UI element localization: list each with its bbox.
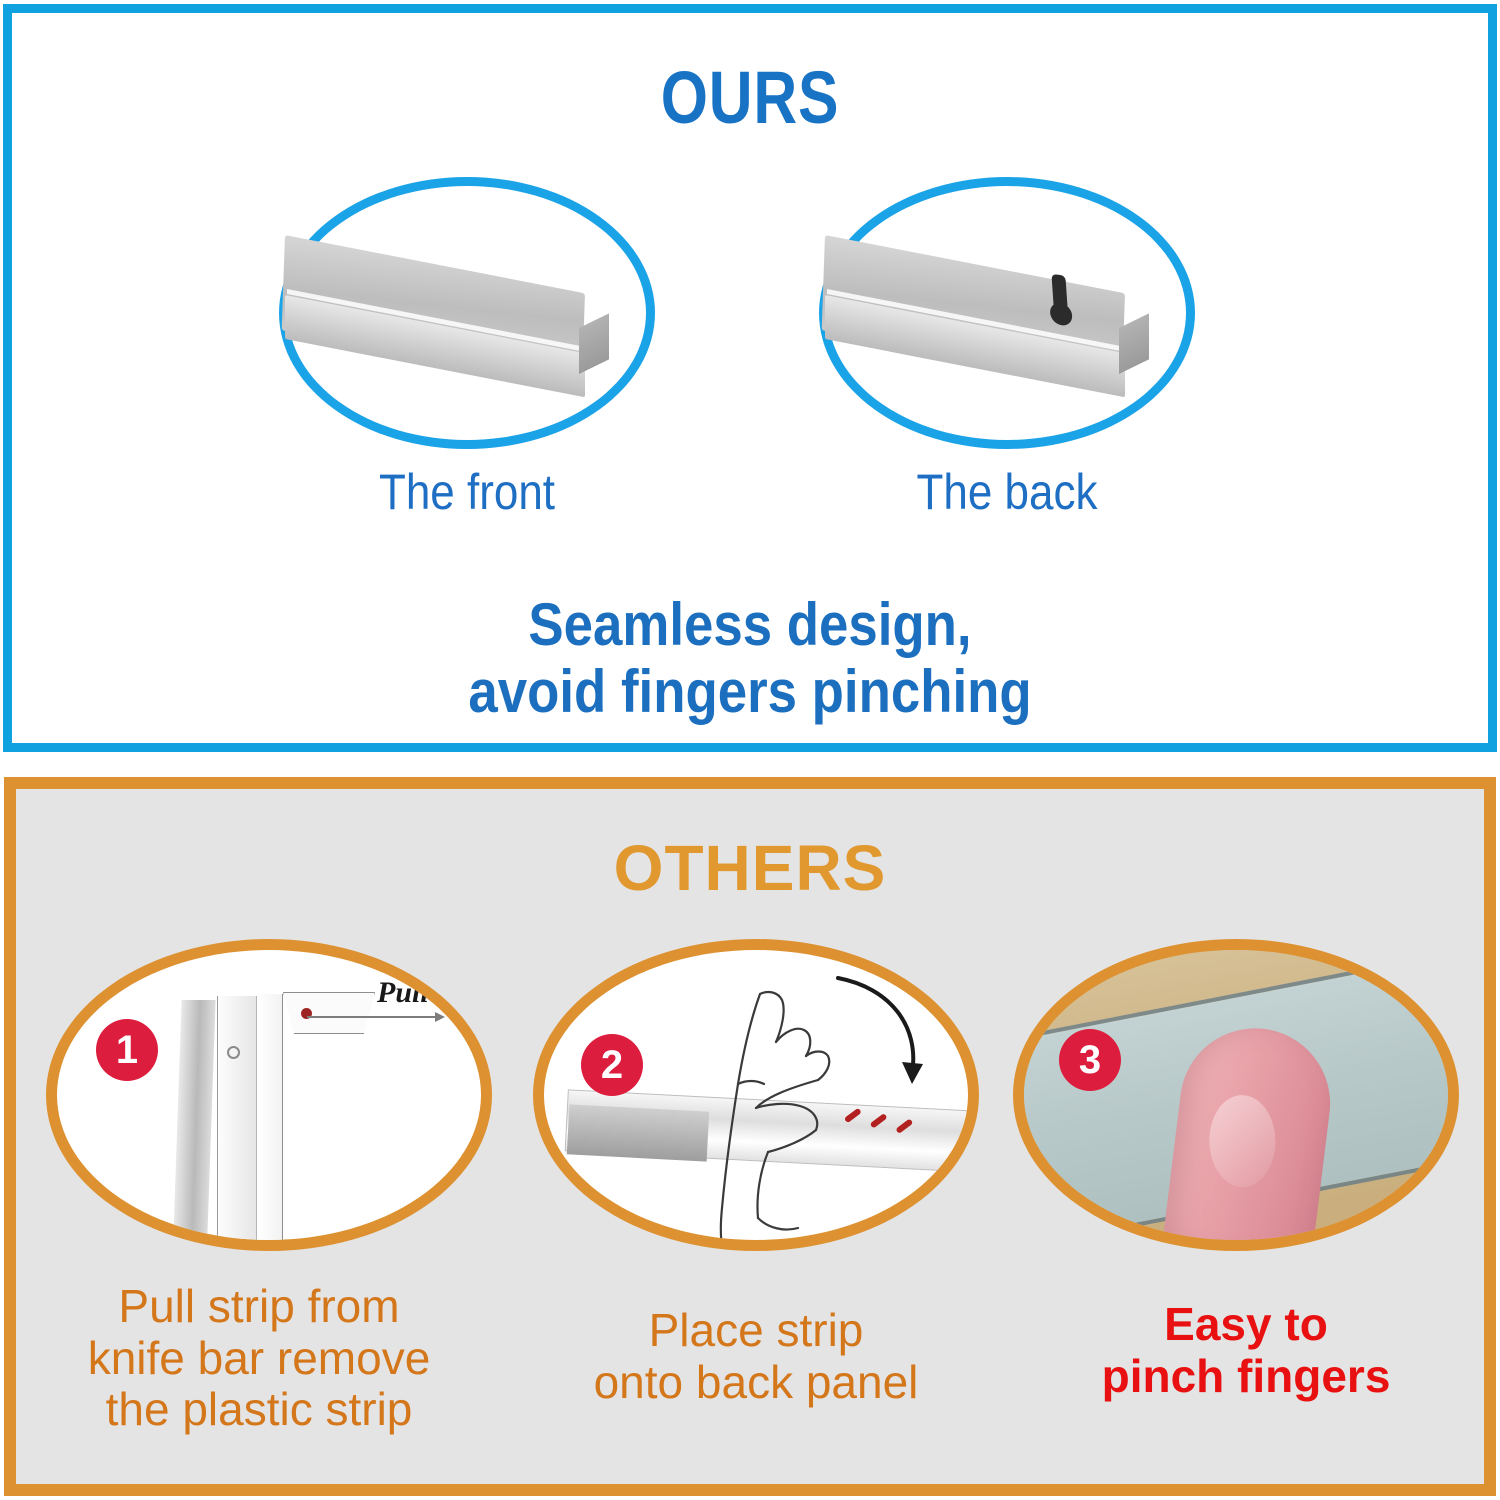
- others-title: OTHERS: [16, 831, 1484, 905]
- ours-headline: Seamless design, avoid fingers pinching: [101, 591, 1400, 725]
- ours-title: OURS: [145, 61, 1355, 135]
- screw-hole-icon: [227, 1046, 240, 1059]
- step-number-badge-2: 2: [581, 1034, 643, 1096]
- ours-figure-front: The front: [257, 163, 677, 463]
- step-3: 3: [1001, 929, 1471, 1259]
- orange-ellipse-frame: [1013, 939, 1459, 1251]
- ours-figure-back: The back: [797, 163, 1217, 463]
- step-caption-2-line1: Place strip: [521, 1305, 991, 1357]
- step-number-badge-1: 1: [96, 1019, 158, 1081]
- step-caption-3-line1: Easy to: [1011, 1299, 1481, 1351]
- knife-bar-front-icon: [285, 235, 615, 385]
- step-caption-2-line2: onto back panel: [521, 1357, 991, 1409]
- step-caption-1: Pull strip from knife bar remove the pla…: [24, 1281, 494, 1436]
- step-caption-3-line2: pinch fingers: [1011, 1351, 1481, 1403]
- knife-bar-body: [217, 996, 257, 1251]
- step-1: Pull 1: [34, 929, 504, 1259]
- pull-arrow-icon: [307, 1016, 443, 1018]
- step-caption-3: Easy to pinch fingers: [1011, 1299, 1481, 1402]
- figure-caption-back: The back: [822, 463, 1192, 521]
- step-caption-2: Place strip onto back panel: [521, 1305, 991, 1408]
- thumbnail-highlight: [1209, 1095, 1277, 1188]
- ours-panel: OURS The front: [3, 4, 1497, 752]
- step-number-badge-3: 3: [1059, 1029, 1121, 1091]
- step-caption-1-line3: the plastic strip: [24, 1384, 494, 1436]
- step-caption-1-line2: knife bar remove: [24, 1333, 494, 1385]
- step-2: 2: [521, 929, 991, 1259]
- downward-curved-arrow-icon: [824, 970, 944, 1110]
- others-panel: OTHERS Pull 1: [4, 777, 1496, 1496]
- ours-headline-line2: avoid fingers pinching: [101, 658, 1400, 725]
- knife-bar-face: [257, 994, 283, 1251]
- comparison-infographic: OURS The front: [0, 0, 1500, 1500]
- orange-ellipse-frame: [533, 939, 979, 1251]
- knife-bar-back-plate: [172, 1000, 215, 1251]
- orange-ellipse-frame: Pull: [46, 939, 492, 1251]
- figure-caption-front: The front: [282, 463, 652, 521]
- pull-annotation-label: Pull: [377, 976, 429, 1010]
- others-step-row: Pull 1: [16, 929, 1484, 1259]
- ours-figure-row: The front The back: [12, 163, 1488, 463]
- ours-headline-line1: Seamless design,: [101, 591, 1400, 658]
- step-caption-1-line1: Pull strip from: [24, 1281, 494, 1333]
- knife-bar-back-keyhole-icon: [825, 235, 1155, 385]
- plastic-strip-tab: [283, 992, 375, 1034]
